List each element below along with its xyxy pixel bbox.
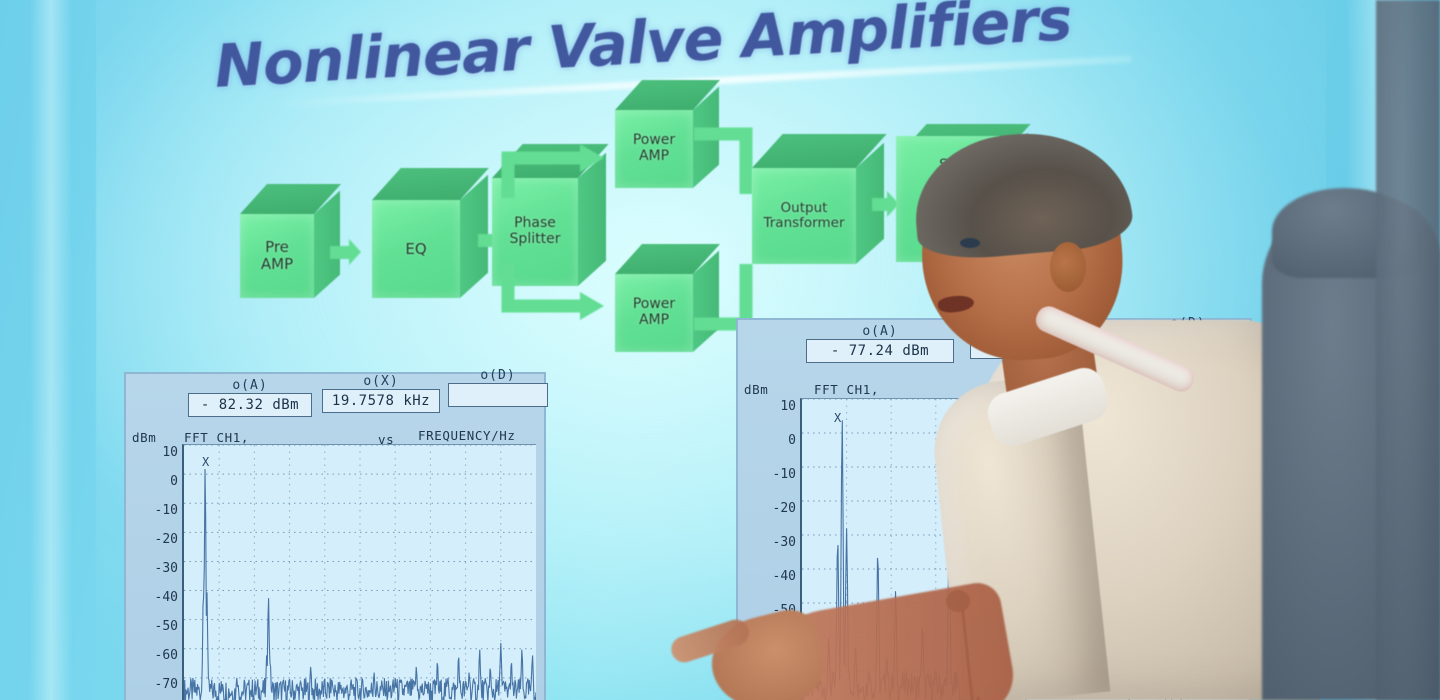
field-value[interactable] <box>448 383 548 407</box>
block-label: EQ <box>405 241 426 258</box>
diagram-block-pre-amp: Pre AMP <box>240 214 314 298</box>
y-tick: -50 <box>155 620 178 633</box>
field-label: o(A) <box>188 378 312 393</box>
instrument-panel-left: o(A) - 82.32 dBm o(X) 19.7578 kHz o(D) F… <box>124 372 546 700</box>
diagram-block-power-amp-bottom: Power AMP <box>615 274 693 352</box>
diagram-block-power-amp-top: Power AMP <box>615 110 693 188</box>
trace-label: FFT CH1, <box>814 382 879 397</box>
presenter-hair <box>909 125 1135 263</box>
y-tick: -30 <box>155 562 178 575</box>
cursor-marker-label: X <box>202 455 209 469</box>
presenter <box>900 130 1320 700</box>
cursor-marker-label: X <box>834 411 841 425</box>
field-label: o(D) <box>448 368 548 383</box>
diagram-block-eq: EQ <box>372 200 460 298</box>
y-tick: -40 <box>773 570 796 583</box>
field-value[interactable]: - 82.32 dBm <box>188 393 312 417</box>
x-axis-label: FREQUENCY/Hz <box>418 428 516 443</box>
fft-trace <box>184 445 536 700</box>
field-group-oa: o(A) - 82.32 dBm <box>188 378 312 417</box>
block-label: Power AMP <box>633 297 675 328</box>
block-label: Pre AMP <box>261 239 293 273</box>
presenter-eye <box>960 238 980 248</box>
diagram-block-output-transformer: Output Transformer <box>752 168 856 264</box>
diagram-branch-down <box>500 258 620 330</box>
y-tick: -30 <box>773 536 796 549</box>
y-axis-unit: dBm <box>744 382 768 397</box>
y-tick: 10 <box>780 400 796 413</box>
presentation-photo: Nonlinear Valve Amplifiers Pre AMP EQ <box>0 0 1440 700</box>
diagram-branch-up <box>500 140 620 202</box>
y-tick: -60 <box>155 649 178 662</box>
field-group-od: o(D) <box>448 368 548 407</box>
field-value[interactable]: 19.7578 kHz <box>322 389 440 413</box>
block-label: Output Transformer <box>763 201 844 231</box>
y-axis-ticks: 10 0 -10 -20 -30 -40 -50 -60 -70 -80 <box>126 446 178 700</box>
y-tick: -70 <box>155 678 178 691</box>
y-tick: 0 <box>788 434 796 447</box>
field-group-ox: o(X) 19.7578 kHz <box>322 374 440 413</box>
room-shadow <box>1376 0 1440 700</box>
y-tick: -40 <box>155 591 178 604</box>
diagram-arrow <box>330 246 350 259</box>
block-label: Phase Splitter <box>510 216 561 247</box>
y-tick: 0 <box>170 475 178 488</box>
y-tick: -20 <box>155 533 178 546</box>
diagram-arrow <box>872 198 888 211</box>
y-tick: -20 <box>773 502 796 515</box>
fft-plot-left: X <box>182 444 536 700</box>
y-tick: -10 <box>155 504 178 517</box>
y-tick: 10 <box>162 446 178 459</box>
y-tick: -10 <box>773 468 796 481</box>
presenter-ear <box>1050 242 1086 292</box>
y-axis-unit: dBm <box>132 430 156 445</box>
field-label: o(X) <box>322 374 440 389</box>
trace-label: FFT CH1, <box>184 430 249 445</box>
block-label: Power AMP <box>633 133 675 164</box>
